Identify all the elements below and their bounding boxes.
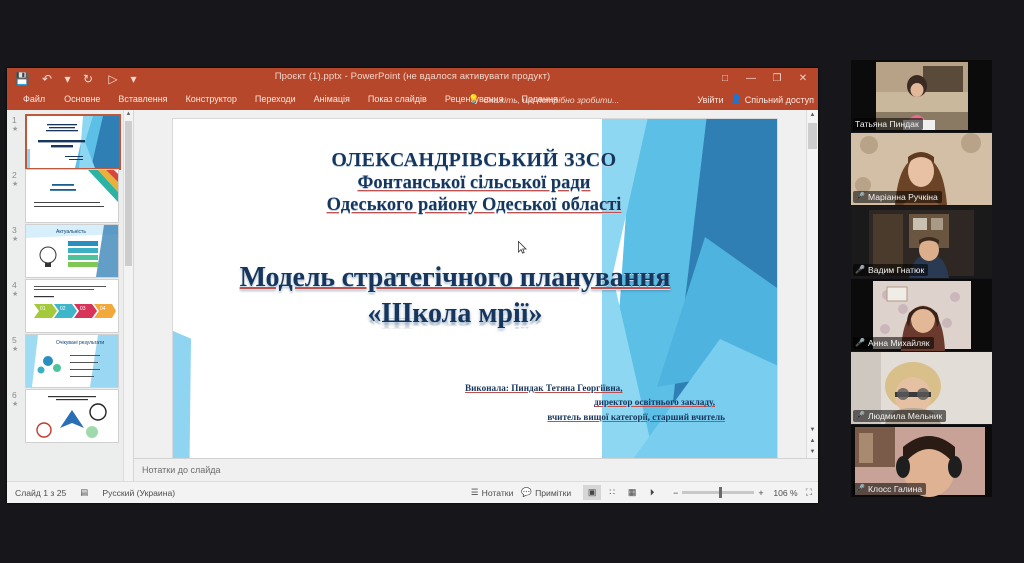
status-bar-left: Слайд 1 з 25 ▤ Русский (Украина) [15,482,175,503]
microphone-muted-icon: 🎤 [855,339,865,347]
microphone-muted-icon: 🎤 [855,412,865,420]
status-bar-right: ☰ Нотатки 💬 Примітки ▣ ∷ ▦ ⏵ − [471,482,812,503]
svg-text:Очікувані результати: Очікувані результати [56,340,104,346]
slide-title[interactable]: Модель стратегічного планування «Школа м… [185,262,725,363]
author-block[interactable]: Виконала: Пиндак Тетяна Георгіївна, дире… [465,381,725,424]
thumbnail-number: 5 [12,335,17,345]
participant-name: Анна Михайляк [868,338,930,348]
restore-icon[interactable]: ❐ [764,68,790,89]
share-label: Спільний доступ [745,95,814,105]
slide-canvas[interactable]: ОЛЕКСАНДРІВСЬКИЙ ЗЗСО Фонтанської сільсь… [173,119,777,459]
svg-text:02: 02 [60,306,66,312]
participant-name: Маріанна Ручкіна [868,192,938,202]
thumbnail-row[interactable]: 3 ★ Актуальність [7,220,133,275]
microphone-muted-icon: 🎤 [855,266,865,274]
animation-star-icon: ★ [12,345,18,353]
tab-home[interactable]: Основне [55,89,109,110]
thumbnail-preview: Очікувані результати [26,335,118,387]
slide-thumbnails-pane[interactable]: 1 ★ [7,110,134,481]
participant-name-badge: 🎤 Маріанна Ручкіна [853,191,942,203]
slide-sorter-view-icon[interactable]: ∷ [603,485,621,500]
scroll-down-icon[interactable]: ▼ [807,425,818,436]
scroll-bottom-controls[interactable]: ▼ ▲ ▼ [807,425,818,458]
comments-button[interactable]: 💬 Примітки [521,487,571,498]
zoom-in-button[interactable]: + [758,488,763,498]
author-line-1-text: Виконала: Пиндак Тетяна Георгіївна, [465,383,623,393]
zoom-level[interactable]: 106 % [772,488,798,498]
status-bar: Слайд 1 з 25 ▤ Русский (Украина) ☰ Нотат… [7,481,818,503]
tell-me-box[interactable]: 💡 Скажіть, що потрібно зробити... [468,89,619,110]
ribbon-display-options-icon[interactable]: □ [712,68,738,89]
thumbnail-slide-2[interactable] [25,169,119,223]
tab-design[interactable]: Конструктор [177,89,246,110]
participant-name: Людмила Мельник [868,411,942,421]
notes-label: Нотатки [482,488,514,498]
scrollbar-thumb[interactable] [808,123,817,149]
notes-placeholder: Нотатки до слайда [142,465,221,475]
author-line-3: вчитель вищої категорії, старший вчитель [465,410,725,424]
comments-label: Примітки [535,488,571,498]
participant-tile[interactable]: 🎤 Клосс Галина [851,425,992,497]
org-line-1: ОЛЕКСАНДРІВСЬКИЙ ЗЗСО [259,149,689,172]
window-controls: □ — ❐ ✕ [712,68,816,89]
author-line-2: директор освітнього закладу, [465,395,725,409]
participant-video-strip: Татьяна Пиндак 🎤 Маріанна Ручкіна [851,60,992,500]
participant-name-badge: 🎤 Вадим Гнатюк [853,264,928,276]
tab-transitions[interactable]: Переходи [246,89,305,110]
notes-icon: ☰ [471,487,479,498]
thumbnails-scrollbar[interactable]: ▲ [123,110,133,481]
sign-in-button[interactable]: Увійти [697,95,723,105]
close-icon[interactable]: ✕ [790,68,816,89]
org-line-3: Одеського району Одеської області [259,195,689,216]
slideshow-view-icon[interactable]: ⏵ [643,485,661,500]
animation-star-icon: ★ [12,125,18,133]
normal-view-icon[interactable]: ▣ [583,485,601,500]
notes-button[interactable]: ☰ Нотатки [471,487,513,498]
thumbnail-row[interactable]: 2 ★ [7,165,133,220]
reading-view-icon[interactable]: ▦ [623,485,641,500]
fit-to-window-icon[interactable]: ⛶ [806,487,812,498]
view-buttons: ▣ ∷ ▦ ⏵ [583,485,661,500]
tab-file[interactable]: Файл [13,89,55,110]
thumbnail-preview: 0102 0304 [26,280,118,332]
title-reflection: «Школа мрії» [185,313,725,331]
scrollbar-thumb[interactable] [125,121,132,266]
thumbnail-slide-4[interactable]: 0102 0304 [25,279,119,333]
svg-text:Актуальність: Актуальність [56,229,86,235]
language-indicator[interactable]: Русский (Украина) [102,488,175,498]
title-bar: 💾 ↶ ▾ ↻ ▷ ▾ Проєкт (1).pptx - PowerPoint… [7,68,818,89]
person-icon: 👤 [731,94,742,105]
notes-pane[interactable]: Нотатки до слайда [134,458,818,481]
participant-name: Татьяна Пиндак [855,119,919,129]
thumbnail-row[interactable]: 6 ★ [7,385,133,440]
thumbnail-slide-1[interactable] [25,114,121,170]
author-line-3-text: вчитель вищої категорії, старший вчитель [547,412,725,422]
microphone-muted-icon: 🎤 [855,193,865,201]
thumbnail-row[interactable]: 5 ★ Очікувані результати [7,330,133,385]
lightbulb-icon: 💡 [468,94,479,105]
thumbnail-preview [26,170,118,222]
thumbnail-row[interactable]: 1 ★ [7,110,133,165]
thumbnail-preview: Актуальність [26,225,118,277]
author-line-2-text: директор освітнього закладу, [594,397,715,407]
meeting-screen: 💾 ↶ ▾ ↻ ▷ ▾ Проєкт (1).pptx - PowerPoint… [0,0,1024,563]
scroll-up-icon[interactable]: ▲ [124,110,133,119]
author-line-1: Виконала: Пиндак Тетяна Георгіївна, [465,381,725,395]
slide-counter[interactable]: Слайд 1 з 25 [15,488,66,498]
participant-tile[interactable]: 🎤 Вадим Гнатюк [851,206,992,278]
slide-vertical-scrollbar[interactable]: ▲ ▼ ▲ ▼ [806,110,818,458]
svg-text:04: 04 [100,306,106,312]
tell-me-placeholder: Скажіть, що потрібно зробити... [483,95,619,105]
ribbon-tab-bar: Файл Основне Вставлення Конструктор Пере… [7,89,818,110]
microphone-muted-icon: 🎤 [855,485,865,493]
org-line-2: Фонтанської сільської ради [259,173,689,194]
svg-text:03: 03 [80,306,86,312]
tab-animations[interactable]: Анімація [305,89,359,110]
minimize-icon[interactable]: — [738,68,764,89]
share-button[interactable]: 👤 Спільний доступ [731,94,814,105]
slide-editing-area: ОЛЕКСАНДРІВСЬКИЙ ЗЗСО Фонтанської сільсь… [134,110,818,481]
thumbnail-preview [27,116,119,168]
participant-name: Вадим Гнатюк [868,265,924,275]
thumbnail-slide-3[interactable]: Актуальність [25,224,119,278]
thumbnail-number: 6 [12,390,17,400]
title-line-1: Модель стратегічного планування [185,262,725,294]
thumbnail-number: 2 [12,170,17,180]
participant-tile[interactable]: 🎤 Людмила Мельник [851,352,992,424]
previous-slide-icon[interactable]: ▲ [807,436,818,447]
participant-tile[interactable]: Татьяна Пиндак [851,60,992,132]
thumbnail-number: 1 [12,115,17,125]
zoom-slider[interactable] [682,491,754,494]
window-title: Проєкт (1).pptx - PowerPoint (не вдалося… [7,71,818,82]
participant-tile[interactable]: 🎤 Анна Михайляк [851,279,992,351]
thumbnail-preview [26,390,118,442]
thumbnail-row[interactable]: 4 ★ 0102 0304 [7,275,133,330]
tab-insert[interactable]: Вставлення [109,89,176,110]
participant-name-badge: 🎤 Людмила Мельник [853,410,946,422]
next-slide-icon[interactable]: ▼ [807,447,818,458]
organization-heading[interactable]: ОЛЕКСАНДРІВСЬКИЙ ЗЗСО Фонтанської сільсь… [259,149,689,216]
ribbon-right-group: Увійти 👤 Спільний доступ [697,89,814,110]
zoom-out-button[interactable]: − [673,488,678,498]
thumbnail-slide-5[interactable]: Очікувані результати [25,334,119,388]
proofing-icon[interactable]: ▤ [80,487,88,498]
participant-tile[interactable]: 🎤 Маріанна Ручкіна [851,133,992,205]
participant-name-badge: 🎤 Клосс Галина [853,483,926,495]
zoom-slider-handle[interactable] [719,487,722,498]
animation-star-icon: ★ [12,290,18,298]
powerpoint-window: 💾 ↶ ▾ ↻ ▷ ▾ Проєкт (1).pptx - PowerPoint… [7,68,818,503]
scroll-up-icon[interactable]: ▲ [807,110,818,121]
mouse-cursor-icon [518,241,527,254]
svg-text:01: 01 [40,306,46,312]
animation-star-icon: ★ [12,400,18,408]
participant-name: Клосс Галина [868,484,922,494]
workspace: 1 ★ [7,110,818,481]
thumbnail-number: 3 [12,225,17,235]
thumbnail-slide-6[interactable] [25,389,119,443]
participant-name-badge: Татьяна Пиндак [853,118,923,130]
tab-slideshow[interactable]: Показ слайдів [359,89,436,110]
comment-icon: 💬 [521,487,532,498]
participant-name-badge: 🎤 Анна Михайляк [853,337,934,349]
current-slide[interactable]: ОЛЕКСАНДРІВСЬКИЙ ЗЗСО Фонтанської сільсь… [172,118,778,460]
animation-star-icon: ★ [12,235,18,243]
zoom-control[interactable]: − + [673,488,764,498]
thumbnail-number: 4 [12,280,17,290]
animation-star-icon: ★ [12,180,18,188]
